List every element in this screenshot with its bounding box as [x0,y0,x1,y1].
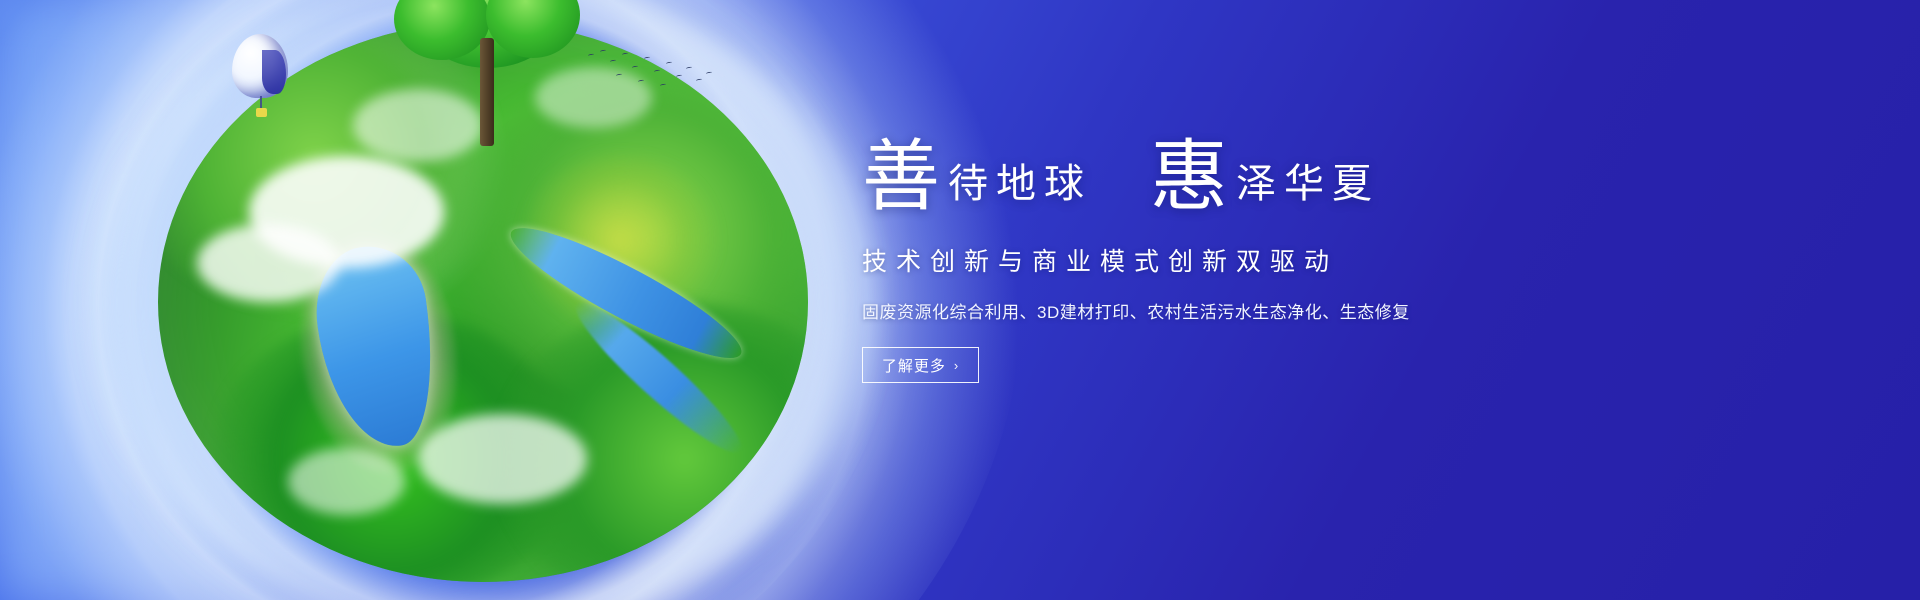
hero-subtitle: 技术创新与商业模式创新双驱动 [862,242,1562,278]
cloud [288,448,405,515]
cloud [197,224,340,302]
hero-headline: 善 待地球 惠 泽华夏 [862,138,1562,216]
headline-lead-char-2: 惠 [1150,138,1228,216]
hero-banner: 善 待地球 惠 泽华夏 技术创新与商业模式创新双驱动 固废资源化综合利用、3D建… [0,0,1920,600]
chevron-right-icon: › [954,358,959,373]
headline-rest-2: 泽华夏 [1236,164,1380,216]
cloud [418,414,587,504]
headline-lead-char-1: 善 [862,138,940,216]
learn-more-button[interactable]: 了解更多 › [862,347,979,383]
headline-rest-1: 待地球 [948,164,1092,216]
learn-more-label: 了解更多 [882,355,946,376]
hero-copy: 善 待地球 惠 泽华夏 技术创新与商业模式创新双驱动 固废资源化综合利用、3D建… [862,138,1562,383]
hot-air-balloon-icon [232,34,292,122]
bird-flock-icon [586,48,716,94]
large-tree-icon [392,0,582,152]
hero-description: 固废资源化综合利用、3D建材打印、农村生活污水生态净化、生态修复 [862,298,1562,323]
